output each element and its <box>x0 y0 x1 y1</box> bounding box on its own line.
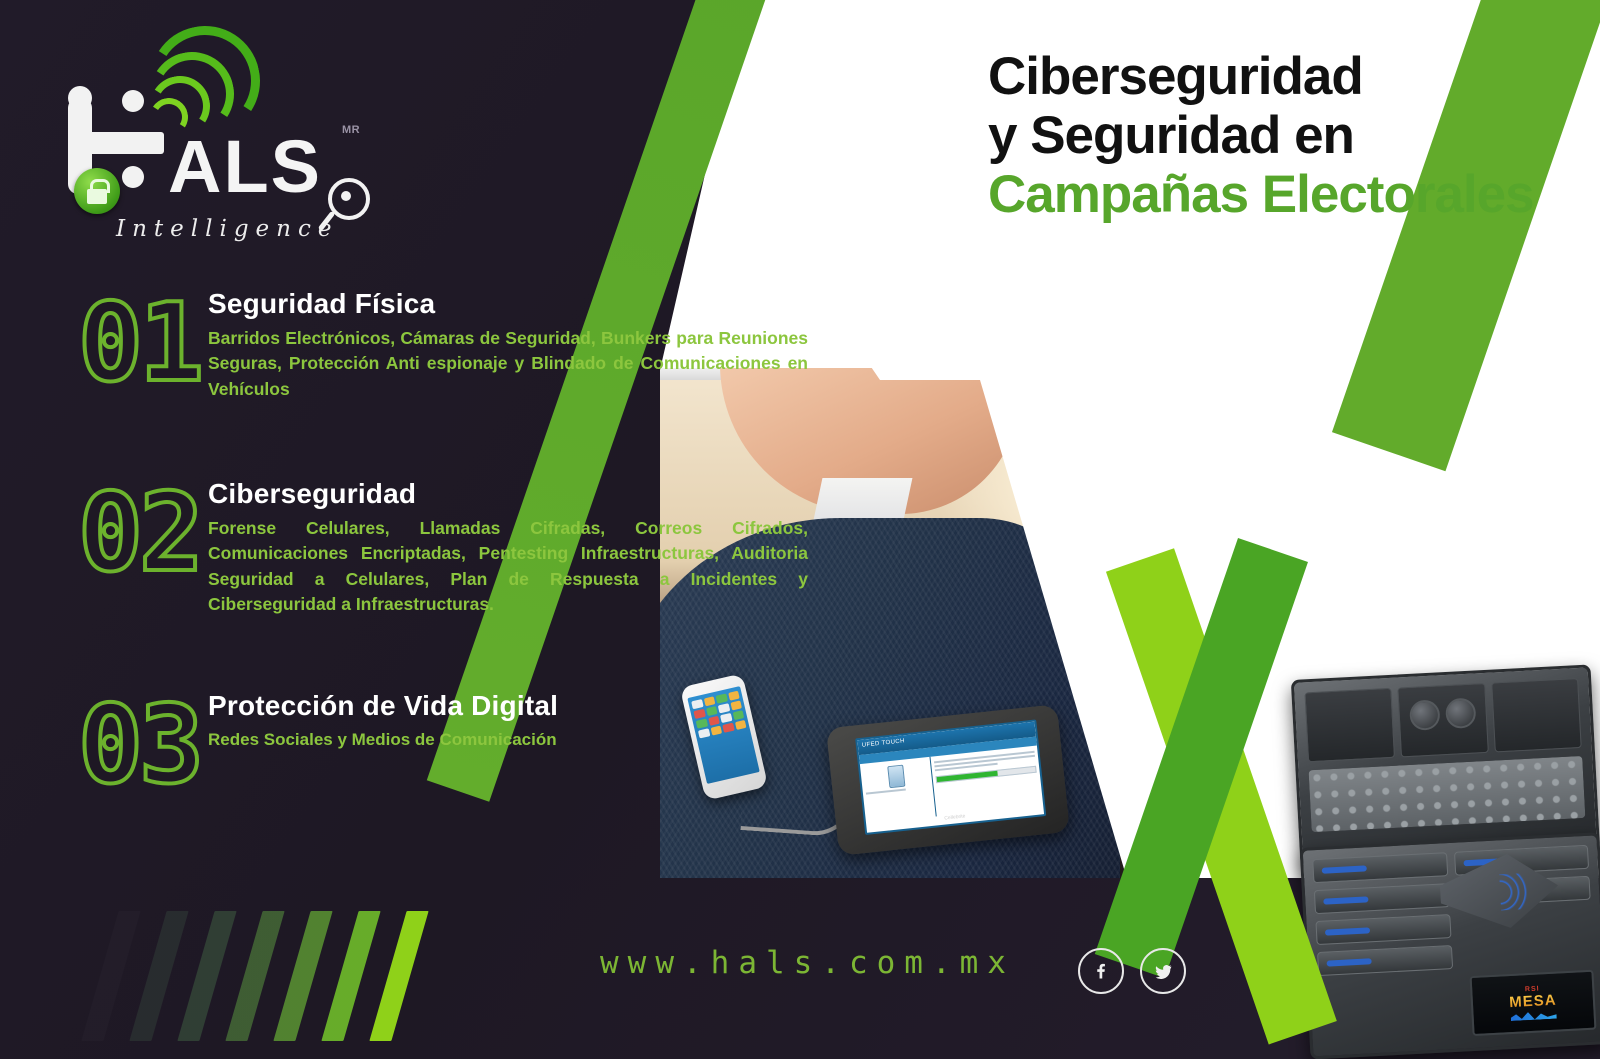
decorative-stripes <box>100 911 570 1041</box>
device-thumbnail-icon <box>887 765 905 789</box>
microphone-led-icon <box>1507 446 1514 453</box>
headline-line-3: Campañas Electorales <box>988 168 1548 221</box>
section-title-01: Seguridad Física <box>208 288 808 320</box>
website-url[interactable]: www.hals.com.mx <box>600 945 1015 981</box>
service-section-03: 03 Protección de Vida Digital Redes Soci… <box>78 690 818 800</box>
decor-stripe <box>225 911 284 1041</box>
forensic-tablet-left-pane <box>860 757 937 824</box>
case-foam-padding <box>1309 756 1586 832</box>
mesa-analyzer-device: RSI MESA <box>1470 970 1597 1036</box>
logo-wordmark: ALS <box>168 134 322 201</box>
headline-line-2: y Seguridad en <box>988 109 1548 162</box>
page-title: Ciberseguridad y Seguridad en Campañas E… <box>988 50 1548 221</box>
social-links <box>1078 948 1186 994</box>
section-text-03: Redes Sociales y Medios de Comunicación <box>208 728 808 753</box>
section-number-03: 03 <box>78 690 196 800</box>
forensic-tablet-device: UFED TOUCH Cellebrite <box>826 704 1070 856</box>
section-text-01: Barridos Electrónicos, Cámaras de Seguri… <box>208 326 808 402</box>
service-section-01: 01 Seguridad Física Barridos Electrónico… <box>78 288 818 402</box>
service-section-02: 02 Ciberseguridad Forense Celulares, Lla… <box>78 478 818 618</box>
logo-dot-top <box>122 90 144 112</box>
twitter-icon[interactable] <box>1140 948 1186 994</box>
section-body-02: Ciberseguridad Forense Celulares, Llamad… <box>196 478 808 618</box>
case-base: RSI MESA <box>1300 832 1600 1059</box>
headline-line-1: Ciberseguridad <box>988 50 1548 103</box>
trademark-mark: MR <box>342 124 360 136</box>
logo-tagline: Intelligence <box>116 216 338 242</box>
decor-stripe <box>129 911 188 1041</box>
lock-icon <box>74 168 120 214</box>
signal-waveform-icon <box>1511 1011 1557 1021</box>
decor-stripe <box>369 911 428 1041</box>
poster-canvas: UFED TOUCH Cellebrite <box>0 0 1600 1059</box>
section-body-01: Seguridad Física Barridos Electrónicos, … <box>196 288 808 402</box>
logo-crossbar <box>86 132 164 154</box>
section-title-02: Ciberseguridad <box>208 478 808 510</box>
logo-dot-bottom <box>122 166 144 188</box>
decor-stripe <box>177 911 236 1041</box>
decor-stripe <box>273 911 332 1041</box>
magnifier-icon <box>328 178 370 220</box>
forensic-tablet-right-pane <box>931 746 1044 817</box>
decor-stripe <box>321 911 380 1041</box>
section-body-03: Protección de Vida Digital Redes Sociale… <box>196 690 808 753</box>
brand-logo: ALS Intelligence MR <box>60 48 360 213</box>
section-number-01: 01 <box>78 288 196 398</box>
mesa-model-label: MESA <box>1509 992 1557 1011</box>
facebook-icon[interactable] <box>1078 948 1124 994</box>
headphones-icon <box>1409 697 1476 730</box>
tscm-sweep-case: RSI MESA <box>1291 664 1600 1039</box>
section-number-02: 02 <box>78 478 196 588</box>
section-text-02: Forense Celulares, Llamadas Cifradas, Co… <box>208 516 808 618</box>
forensic-tablet-screen: UFED TOUCH Cellebrite <box>855 719 1046 834</box>
section-title-03: Protección de Vida Digital <box>208 690 808 722</box>
logo-stem-cap <box>68 86 92 110</box>
